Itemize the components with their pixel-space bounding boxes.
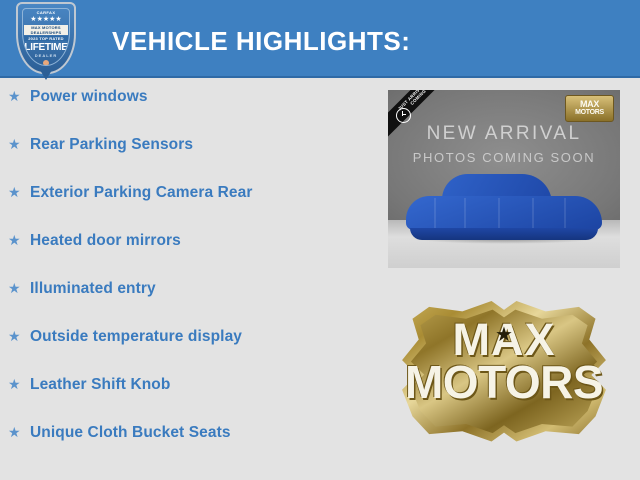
list-item: ★ Illuminated entry [0,280,380,328]
list-item: ★ Outside temperature display [0,328,380,376]
star-bullet-icon: ★ [8,329,30,343]
highlight-label: Exterior Parking Camera Rear [30,184,253,202]
star-bullet-icon: ★ [8,185,30,199]
list-item: ★ Unique Cloth Bucket Seats [0,424,380,472]
watermark-motors-text: MOTORS [575,109,604,117]
max-motors-logo[interactable]: MAX ★ MOTORS [400,298,608,446]
list-item: ★ Leather Shift Knob [0,376,380,424]
star-bullet-icon: ★ [8,377,30,391]
star-bullet-icon: ★ [8,281,30,295]
highlight-label: Heated door mirrors [30,232,181,250]
badge-shield-shape: CARFAX ★★★★★ MAX MOTORS DEALERSHIPS 2023… [16,2,76,74]
photos-coming-soon-subhead: PHOTOS COMING SOON [388,150,620,165]
max-motors-watermark-icon: MAX MOTORS [565,95,614,122]
badge-person-icon [39,60,53,66]
badge-inner-panel: CARFAX ★★★★★ MAX MOTORS DEALERSHIPS 2023… [22,8,70,66]
badge-carfax-brand: CARFAX [23,10,69,15]
star-bullet-icon: ★ [8,89,30,103]
new-arrival-headline: NEW ARRIVAL [388,123,620,145]
list-item: ★ Exterior Parking Camera Rear [0,184,380,232]
logo-star-icon: ★ [495,325,513,345]
highlight-label: Leather Shift Knob [30,376,170,394]
star-bullet-icon: ★ [8,425,30,439]
clock-icon [396,108,411,123]
draped-car-icon [406,174,602,236]
vehicle-highlights-list: ★ Power windows ★ Rear Parking Sensors ★… [0,88,380,472]
page-title: VEHICLE HIGHLIGHTS: [112,26,410,57]
carfax-lifetime-dealer-badge-icon: CARFAX ★★★★★ MAX MOTORS DEALERSHIPS 2023… [16,2,76,82]
highlight-label: Rear Parking Sensors [30,136,193,154]
page-header: VEHICLE HIGHLIGHTS: [0,0,640,78]
star-bullet-icon: ★ [8,137,30,151]
badge-line-dealerships: DEALERSHIPS [24,30,68,35]
highlight-label: Unique Cloth Bucket Seats [30,424,231,442]
badge-dealer-text: DEALER [23,53,69,58]
badge-stars-icon: ★★★★★ [23,16,69,23]
highlight-label: Power windows [30,88,148,106]
badge-line-top-rated: 2023 TOP RATED [24,36,68,41]
badge-shield-tip [40,70,52,80]
list-item: ★ Rear Parking Sensors [0,136,380,184]
badge-lifetime-text: LIFETIME [23,42,69,53]
highlight-label: Outside temperature display [30,328,242,346]
watermark-max-text: MAX [580,100,599,109]
star-bullet-icon: ★ [8,233,30,247]
vehicle-photo-placeholder[interactable]: NEW ARRIVAL PHOTOS COMING SOON JUST ARRI… [388,90,620,268]
list-item: ★ Power windows [0,88,380,136]
logo-motors-text: MOTORS [400,359,608,405]
highlight-label: Illuminated entry [30,280,156,298]
list-item: ★ Heated door mirrors [0,232,380,280]
